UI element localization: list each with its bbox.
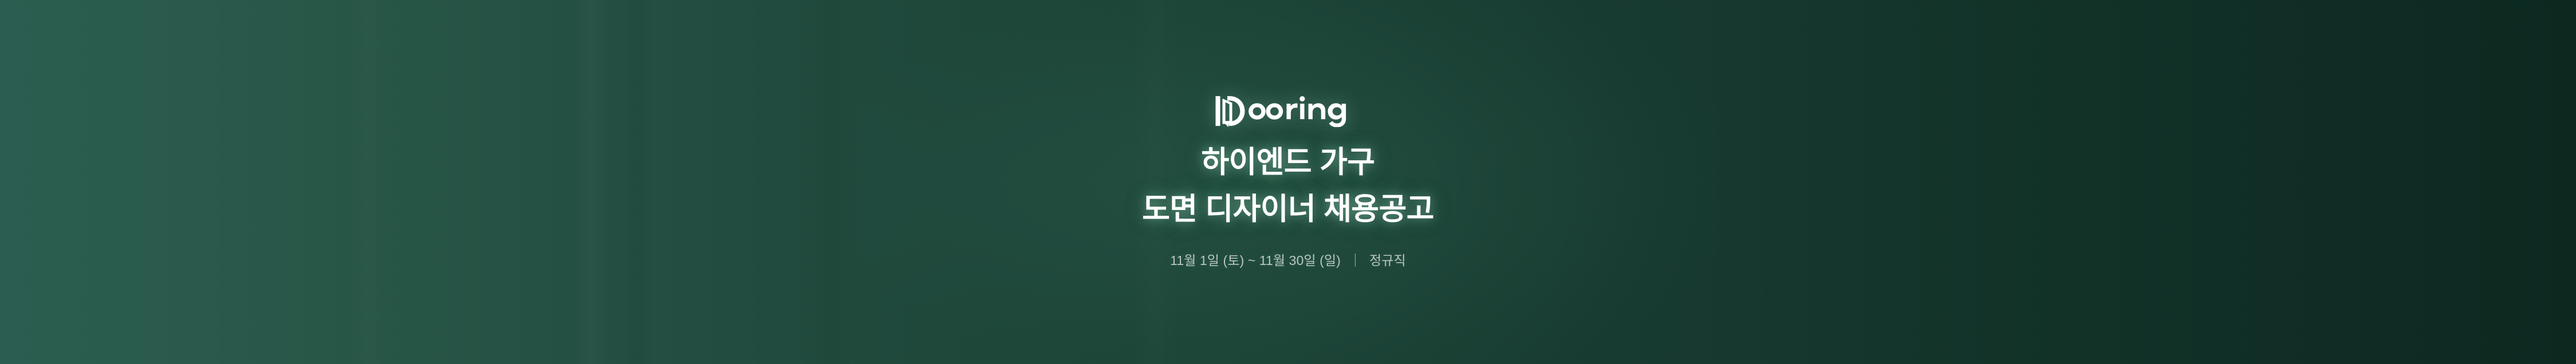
recruitment-period: 11월 1일 (토) ~ 11월 30일 (일) <box>1170 252 1341 269</box>
recruitment-banner: 하이엔드 가구 도면 디자이너 채용공고 11월 1일 (토) ~ 11월 30… <box>0 0 2576 364</box>
headline-line-1: 하이엔드 가구 <box>1201 143 1374 183</box>
dooring-door-logo-icon <box>1215 95 1361 127</box>
meta-separator: ｜ <box>1349 252 1362 269</box>
banner-content: 하이엔드 가구 도면 디자이너 채용공고 11월 1일 (토) ~ 11월 30… <box>0 0 2576 364</box>
banner-meta: 11월 1일 (토) ~ 11월 30일 (일) ｜ 정규직 <box>1170 252 1406 269</box>
dooring-logo <box>1215 95 1361 127</box>
headline-line-2: 도면 디자이너 채용공고 <box>1142 189 1434 230</box>
employment-type: 정규직 <box>1369 252 1406 269</box>
